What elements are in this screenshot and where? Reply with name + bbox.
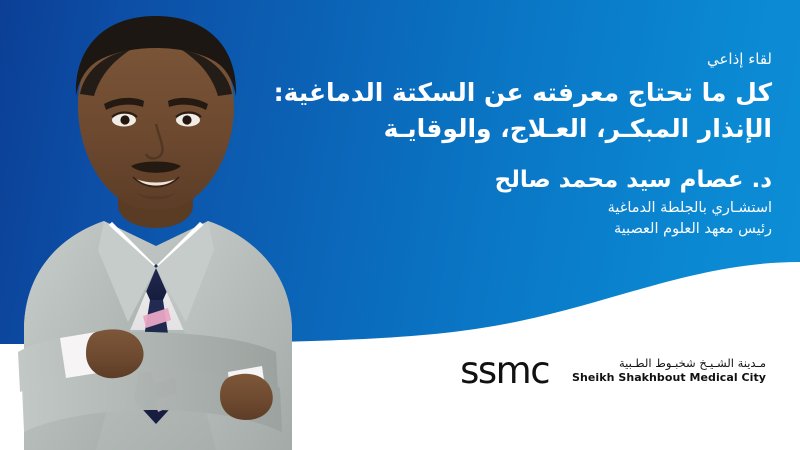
ssmc-logo: ssmc مـدينة الشـيـخ شخبـوط الطـبية Sheik… xyxy=(460,352,766,389)
headline-text-block: لقاء إذاعي كل ما تحتاج معرفته عن السكتة … xyxy=(252,50,772,240)
kicker-label: لقاء إذاعي xyxy=(252,50,772,68)
headline-line-2: الإنذار المبكـر، العـلاج، والوقايـة xyxy=(252,111,772,147)
doctor-name: د. عصام سيد محمد صالح xyxy=(252,166,772,196)
doctor-role-line-2: رئيس معهد العلوم العصبية xyxy=(252,219,772,240)
promo-banner: لقاء إذاعي كل ما تحتاج معرفته عن السكتة … xyxy=(0,0,800,450)
ssmc-wordmark: ssmc xyxy=(460,352,549,389)
logo-name-english: Sheikh Shakhbout Medical City xyxy=(572,372,766,384)
doctor-role-line-1: استشـاري بالجلطة الدماغية xyxy=(252,198,772,219)
page-title: كل ما تحتاج معرفته عن السكتة الدماغية: ا… xyxy=(252,75,772,146)
logo-name-arabic: مـدينة الشـيـخ شخبـوط الطـبية xyxy=(572,357,766,370)
headline-line-1: كل ما تحتاج معرفته عن السكتة الدماغية: xyxy=(274,78,772,107)
logo-divider xyxy=(560,356,561,386)
logo-name-block: مـدينة الشـيـخ شخبـوط الطـبية Sheikh Sha… xyxy=(572,357,766,384)
